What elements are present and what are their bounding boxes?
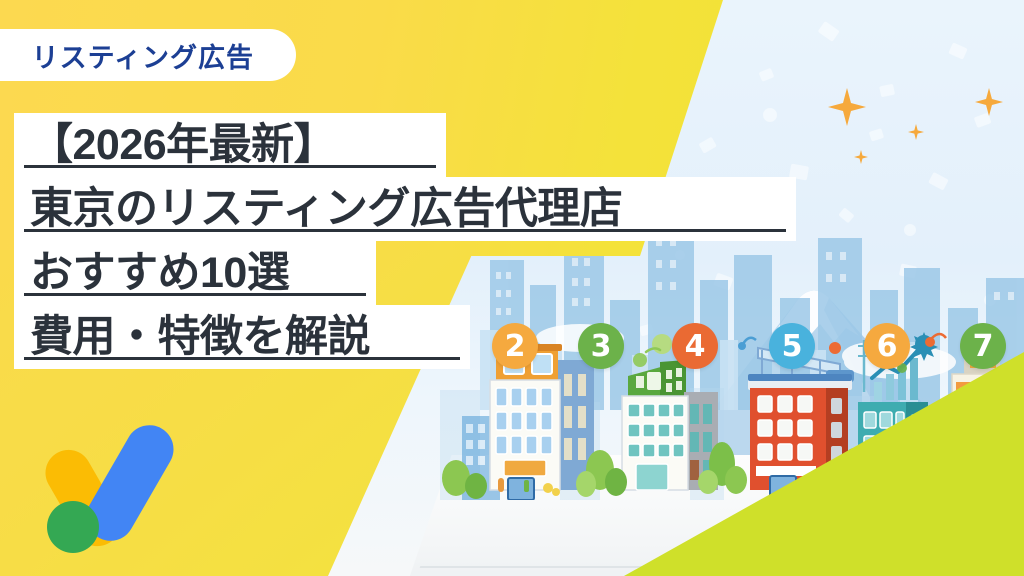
creative-banner: 234567 リスティング広告 【2026年最新】 東京のリスティング広告代理店… (0, 0, 1024, 576)
headline-line-4: 費用・特徴を解説 (14, 305, 470, 369)
sparkle-icon (975, 88, 1003, 116)
headline-line-1: 【2026年最新】 (14, 113, 446, 177)
category-badge: リスティング広告 (0, 29, 296, 81)
headline-block: 【2026年最新】 東京のリスティング広告代理店 おすすめ10選 費用・特徴を解… (14, 113, 796, 369)
headline-line-2-text: 東京のリスティング広告代理店 (30, 188, 622, 231)
ranking-circle-7: 7 (960, 323, 1006, 369)
ranking-circle-6: 6 (864, 323, 910, 369)
headline-line-3: おすすめ10選 (14, 241, 376, 305)
sparkle-icon (908, 124, 924, 140)
google-ads-logo (36, 412, 184, 562)
sparkle-icon (854, 150, 868, 164)
sparkle-icon (828, 88, 866, 126)
category-badge-label: リスティング広告 (32, 36, 254, 75)
google-ads-logo-green-circle (47, 501, 99, 553)
headline-line-1-text: 【2026年最新】 (30, 124, 336, 167)
headline-line-3-text: おすすめ10選 (30, 252, 289, 295)
headline-line-4-text: 費用・特徴を解説 (30, 316, 370, 359)
headline-line-2: 東京のリスティング広告代理店 (14, 177, 796, 241)
